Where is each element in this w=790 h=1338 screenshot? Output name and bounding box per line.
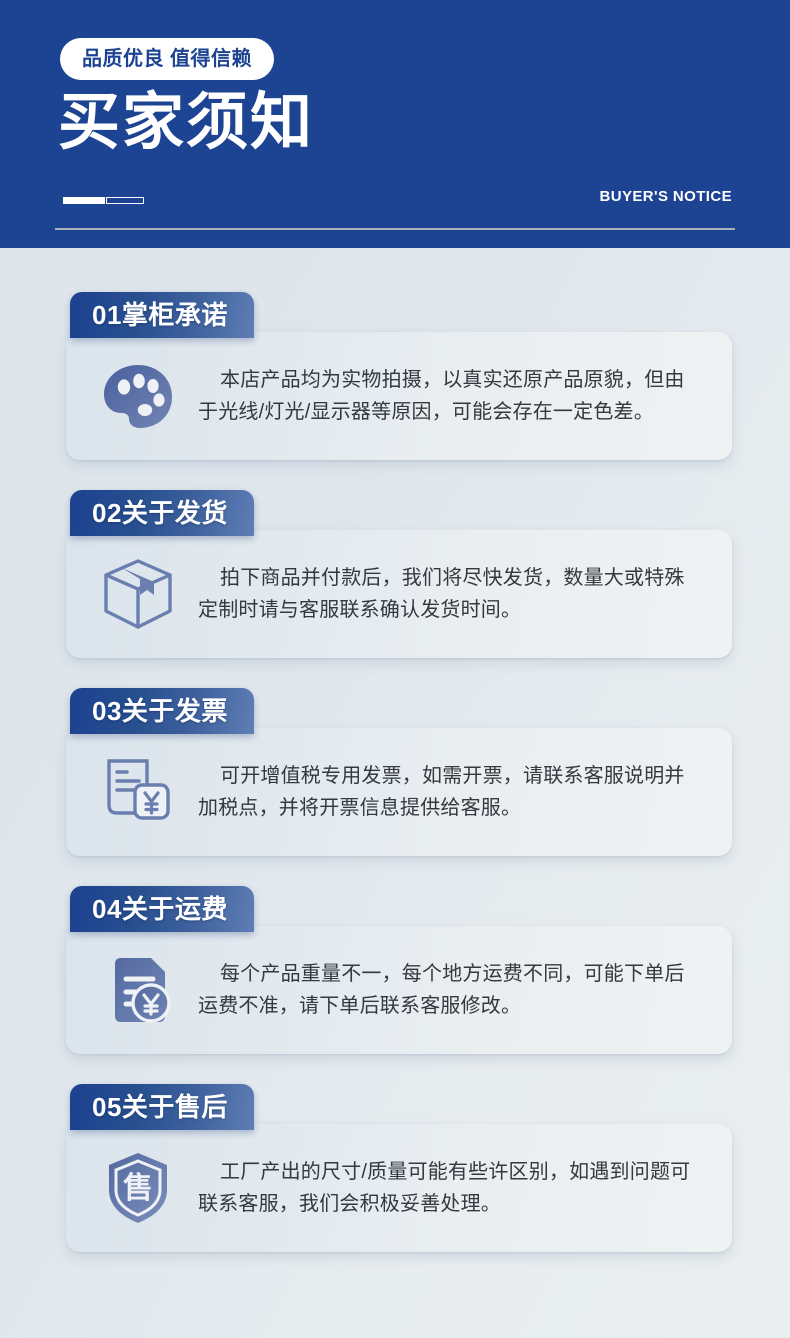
after-sales-shield-icon: 售 [92, 1142, 184, 1234]
section-tab-04: 04关于运费 [70, 886, 254, 932]
section-card-03: 可开增值税专用发票，如需开票，请联系客服说明并加税点，并将开票信息提供给客服。 [66, 728, 732, 856]
notice-section-05: 05关于售后 售 工 [0, 1084, 790, 1252]
section-tab-01: 01掌柜承诺 [70, 292, 254, 338]
parcel-box-icon [92, 548, 184, 640]
section-tab-label-04: 04关于运费 [92, 896, 228, 922]
buyer-notice-page: 品质优良 值得信赖 买家须知 BUYER'S NOTICE 01掌柜承诺 [0, 0, 790, 1338]
section-tab-label-02: 02关于发货 [92, 500, 228, 526]
quality-badge-label: 品质优良 值得信赖 [82, 49, 252, 69]
quality-badge: 品质优良 值得信赖 [60, 38, 274, 80]
shipping-fee-icon [92, 944, 184, 1036]
section-body-01: 本店产品均为实物拍摄，以真实还原产品原貌，但由于光线/灯光/显示器等原因，可能会… [184, 364, 702, 429]
section-card-04: 每个产品重量不一，每个地方运费不同，可能下单后运费不准，请下单后联系客服修改。 [66, 926, 732, 1054]
decorative-bars [63, 197, 144, 204]
section-tab-05: 05关于售后 [70, 1084, 254, 1130]
notice-section-04: 04关于运费 [0, 886, 790, 1054]
section-tab-label-01: 01掌柜承诺 [92, 302, 228, 328]
palette-icon [92, 350, 184, 442]
section-tab-02: 02关于发货 [70, 490, 254, 536]
page-title: 买家须知 [58, 88, 314, 157]
section-tab-03: 03关于发票 [70, 688, 254, 734]
section-body-02: 拍下商品并付款后，我们将尽快发货，数量大或特殊定制时请与客服联系确认发货时间。 [184, 562, 702, 627]
section-card-02: 拍下商品并付款后，我们将尽快发货，数量大或特殊定制时请与客服联系确认发货时间。 [66, 530, 732, 658]
notice-section-01: 01掌柜承诺 [0, 292, 790, 460]
notice-section-02: 02关于发货 拍下商品并付款后，我们将尽快发货，数量大或特殊定制时请与客服联系确… [0, 490, 790, 658]
notice-sections: 01掌柜承诺 [0, 248, 790, 1252]
section-body-04: 每个产品重量不一，每个地方运费不同，可能下单后运费不准，请下单后联系客服修改。 [184, 958, 702, 1023]
section-tab-label-03: 03关于发票 [92, 698, 228, 724]
header-divider [55, 228, 735, 230]
section-body-05: 工厂产出的尺寸/质量可能有些许区别，如遇到问题可联系客服，我们会积极妥善处理。 [184, 1156, 702, 1221]
decorative-bar-outline [106, 197, 144, 204]
page-header: 品质优良 值得信赖 买家须知 BUYER'S NOTICE [0, 0, 790, 248]
decorative-bar-solid [63, 197, 105, 204]
svg-text:售: 售 [123, 1172, 153, 1205]
section-card-05: 售 工厂产出的尺寸/质量可能有些许区别，如遇到问题可联系客服，我们会积极妥善处理… [66, 1124, 732, 1252]
page-subtitle-english: BUYER'S NOTICE [599, 188, 732, 205]
section-tab-label-05: 05关于售后 [92, 1094, 228, 1120]
section-body-03: 可开增值税专用发票，如需开票，请联系客服说明并加税点，并将开票信息提供给客服。 [184, 760, 702, 825]
notice-section-03: 03关于发票 [0, 688, 790, 856]
invoice-icon [92, 746, 184, 838]
section-card-01: 本店产品均为实物拍摄，以真实还原产品原貌，但由于光线/灯光/显示器等原因，可能会… [66, 332, 732, 460]
